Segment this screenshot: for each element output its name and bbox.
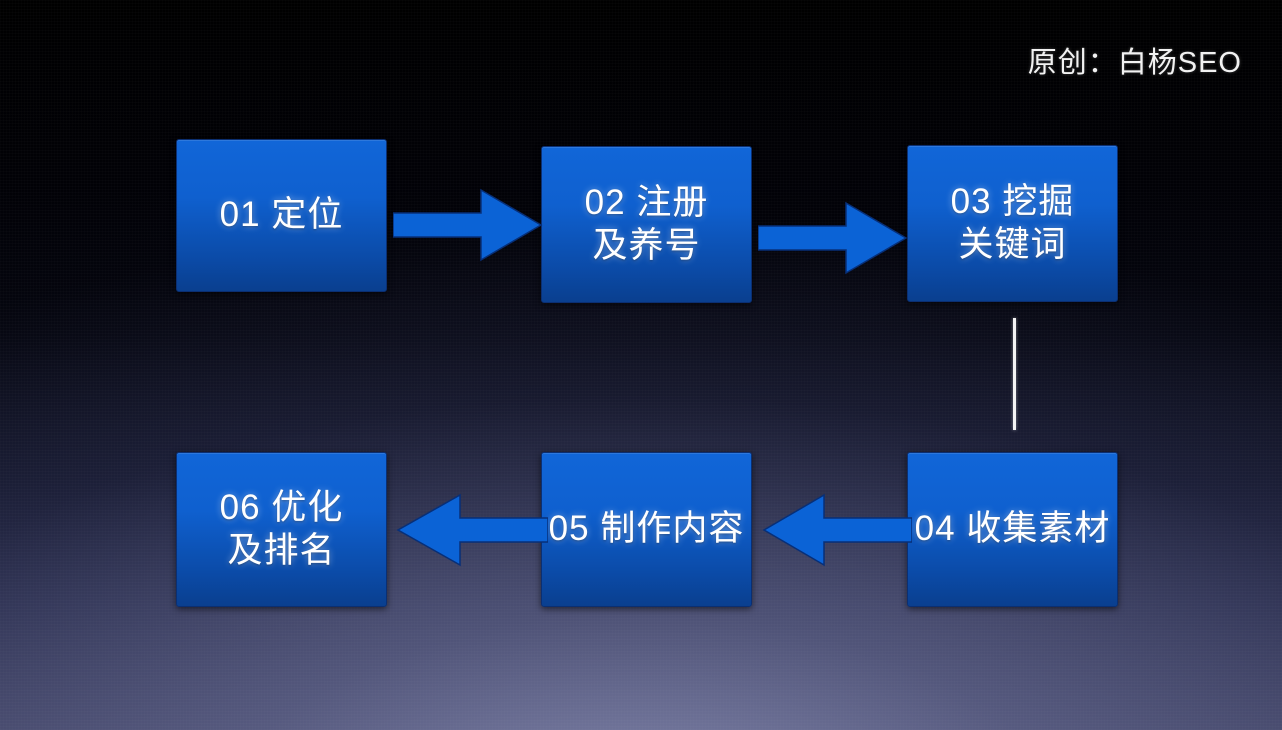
connector-line-03-to-04 — [1013, 318, 1016, 430]
credit-label: 原创：白杨SEO — [1028, 39, 1242, 81]
process-node-04[interactable]: 04 收集素材 — [907, 452, 1118, 607]
process-node-02[interactable]: 02 注册 及养号 — [541, 146, 752, 303]
process-node-05[interactable]: 05 制作内容 — [541, 452, 752, 607]
arrow-02-to-03 — [758, 198, 908, 278]
slide-canvas: 原创：白杨SEO 01 定位 02 注册 及养号 03 挖掘 关键词 06 优化… — [0, 0, 1282, 730]
process-node-03[interactable]: 03 挖掘 关键词 — [907, 145, 1118, 302]
process-node-01[interactable]: 01 定位 — [176, 139, 387, 292]
process-node-06[interactable]: 06 优化 及排名 — [176, 452, 387, 607]
arrow-04-to-05 — [762, 490, 912, 570]
arrow-01-to-02 — [393, 185, 543, 265]
background-texture — [0, 0, 1282, 730]
arrow-05-to-06 — [396, 490, 548, 570]
